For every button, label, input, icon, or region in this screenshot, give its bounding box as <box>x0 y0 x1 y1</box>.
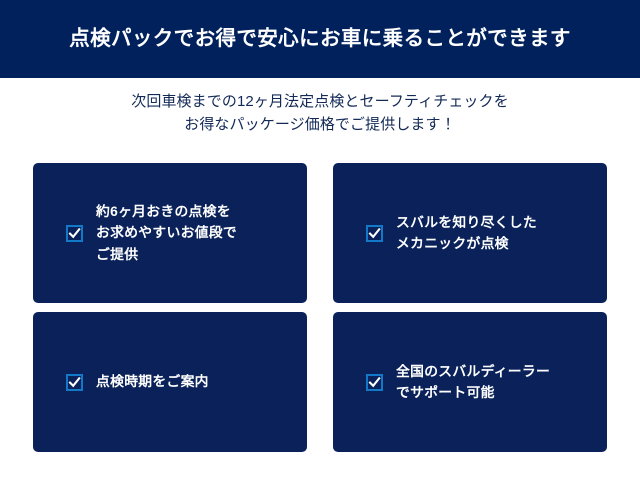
feature-card-4-text: 全国のスバルディーラー でサポート可能 <box>396 361 550 404</box>
promo-page: 点検パックでお得で安心にお車に乗ることができます 次回車検までの12ヶ月法定点検… <box>0 0 640 480</box>
feature-card-4-line-2: でサポート可能 <box>396 382 550 404</box>
feature-card-3-content: 点検時期をご案内 <box>66 371 209 393</box>
checkbox-checked-icon <box>66 374 83 391</box>
feature-cards-grid: 約6ヶ月おきの点検を お求めやすいお値段で ご提供 スバルを知り尽くした メカニ… <box>33 163 607 452</box>
feature-card-1[interactable]: 約6ヶ月おきの点検を お求めやすいお値段で ご提供 <box>33 163 307 303</box>
feature-card-1-line-1: 約6ヶ月おきの点検を <box>96 201 237 223</box>
feature-card-2-line-1: スバルを知り尽くした <box>396 212 537 234</box>
feature-card-2-content: スバルを知り尽くした メカニックが点検 <box>366 212 537 255</box>
feature-card-4[interactable]: 全国のスバルディーラー でサポート可能 <box>333 312 607 452</box>
feature-card-1-text: 約6ヶ月おきの点検を お求めやすいお値段で ご提供 <box>96 201 237 266</box>
feature-card-4-content: 全国のスバルディーラー でサポート可能 <box>366 361 550 404</box>
feature-card-4-line-1: 全国のスバルディーラー <box>396 361 550 383</box>
checkbox-checked-icon <box>366 374 383 391</box>
checkbox-checked-icon <box>66 225 83 242</box>
subtitle-line-1: 次回車検までの12ヶ月法定点検とセーフティチェックを <box>0 90 640 113</box>
header-band: 点検パックでお得で安心にお車に乗ることができます <box>0 0 640 78</box>
feature-card-3-line-1: 点検時期をご案内 <box>96 371 209 393</box>
subtitle-line-2: お得なパッケージ価格でご提供します！ <box>0 113 640 136</box>
feature-card-1-line-3: ご提供 <box>96 244 237 266</box>
checkbox-checked-icon <box>366 225 383 242</box>
feature-card-2[interactable]: スバルを知り尽くした メカニックが点検 <box>333 163 607 303</box>
feature-card-2-line-2: メカニックが点検 <box>396 233 537 255</box>
subtitle-block: 次回車検までの12ヶ月法定点検とセーフティチェックを お得なパッケージ価格でご提… <box>0 90 640 136</box>
feature-card-3-text: 点検時期をご案内 <box>96 371 209 393</box>
feature-card-1-line-2: お求めやすいお値段で <box>96 222 237 244</box>
feature-card-3[interactable]: 点検時期をご案内 <box>33 312 307 452</box>
feature-card-1-content: 約6ヶ月おきの点検を お求めやすいお値段で ご提供 <box>66 201 237 266</box>
page-title: 点検パックでお得で安心にお車に乗ることができます <box>69 27 571 52</box>
feature-card-2-text: スバルを知り尽くした メカニックが点検 <box>396 212 537 255</box>
